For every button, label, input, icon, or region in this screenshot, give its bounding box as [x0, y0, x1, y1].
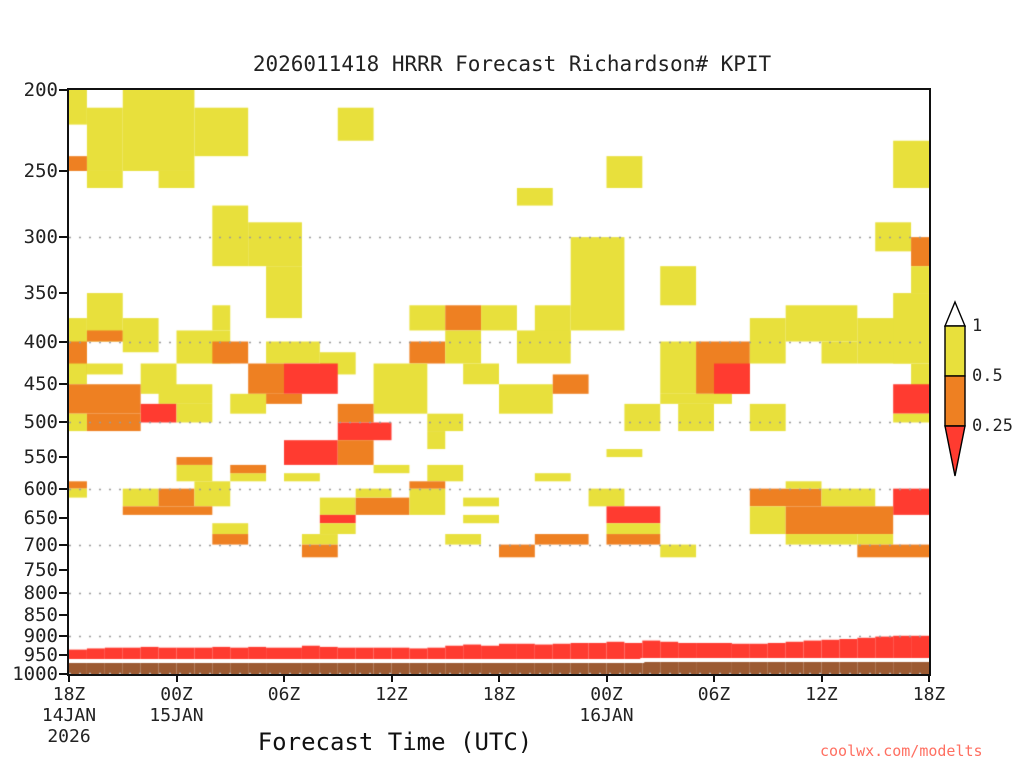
x-axis-title: Forecast Time (UTC) [0, 728, 790, 756]
y-tick-label: 500 [24, 411, 58, 433]
y-tick-mark [59, 592, 67, 594]
y-tick-mark [59, 654, 67, 656]
colorbar-arrow-bottom [945, 426, 965, 476]
y-tick-mark [59, 635, 67, 637]
x-tick-mark [176, 674, 178, 682]
y-tick-mark [59, 383, 67, 385]
y-tick-label: 200 [24, 79, 58, 101]
x-tick-label: 06Z [698, 684, 731, 705]
y-tick-mark [59, 517, 67, 519]
colorbar-band-yellow [945, 326, 965, 376]
x-tick-label: 06Z [268, 684, 301, 705]
y-tick-mark [59, 341, 67, 343]
x-tick-label: 18Z14JAN2026 [42, 684, 96, 748]
colorbar-tick-label: 1 [972, 316, 982, 336]
y-tick-mark [59, 236, 67, 238]
colorbar-tick-label: 0.25 [972, 416, 1013, 436]
colorbar-band-orange [945, 376, 965, 426]
y-tick-label: 800 [24, 582, 58, 604]
y-tick-label: 850 [24, 604, 58, 626]
x-tick-label: 00Z15JAN [149, 684, 203, 726]
x-tick-mark [821, 674, 823, 682]
x-tick-label: 18Z [913, 684, 946, 705]
y-tick-mark [59, 544, 67, 546]
y-tick-mark [59, 421, 67, 423]
y-tick-label: 1000 [12, 663, 58, 685]
y-tick-label: 400 [24, 331, 58, 353]
y-tick-label: 450 [24, 373, 58, 395]
x-tick-label: 12Z [375, 684, 408, 705]
y-tick-label: 350 [24, 282, 58, 304]
y-tick-mark [59, 673, 67, 675]
colorbar-arrow-top [945, 302, 965, 326]
x-tick-label: 12Z [805, 684, 838, 705]
x-tick-mark [68, 674, 70, 682]
heatmap-plot-area [67, 88, 931, 676]
x-tick-label: 00Z16JAN [579, 684, 633, 726]
colorbar [941, 300, 969, 478]
y-tick-label: 600 [24, 478, 58, 500]
y-tick-label: 650 [24, 507, 58, 529]
page-title: 2026011418 HRRR Forecast Richardson# KPI… [0, 52, 1024, 76]
y-tick-mark [59, 614, 67, 616]
y-tick-label: 250 [24, 160, 58, 182]
watermark: coolwx.com/modelts [820, 742, 983, 760]
colorbar-tick-label: 0.5 [972, 366, 1003, 386]
y-tick-mark [59, 456, 67, 458]
y-tick-label: 750 [24, 559, 58, 581]
x-tick-mark [606, 674, 608, 682]
y-tick-mark [59, 569, 67, 571]
y-axis-label-group: 2002503003504004505005506006507007508008… [0, 0, 58, 768]
x-tick-mark [498, 674, 500, 682]
y-tick-mark [59, 89, 67, 91]
x-tick-mark [283, 674, 285, 682]
y-tick-label: 700 [24, 534, 58, 556]
colorbar-svg [941, 300, 969, 478]
heatmap-cells-canvas [69, 90, 929, 674]
x-tick-mark [713, 674, 715, 682]
y-tick-label: 550 [24, 446, 58, 468]
x-tick-label: 18Z [483, 684, 516, 705]
y-tick-mark [59, 170, 67, 172]
x-tick-mark [391, 674, 393, 682]
x-tick-mark [928, 674, 930, 682]
y-tick-mark [59, 292, 67, 294]
y-tick-label: 300 [24, 226, 58, 248]
y-tick-mark [59, 488, 67, 490]
